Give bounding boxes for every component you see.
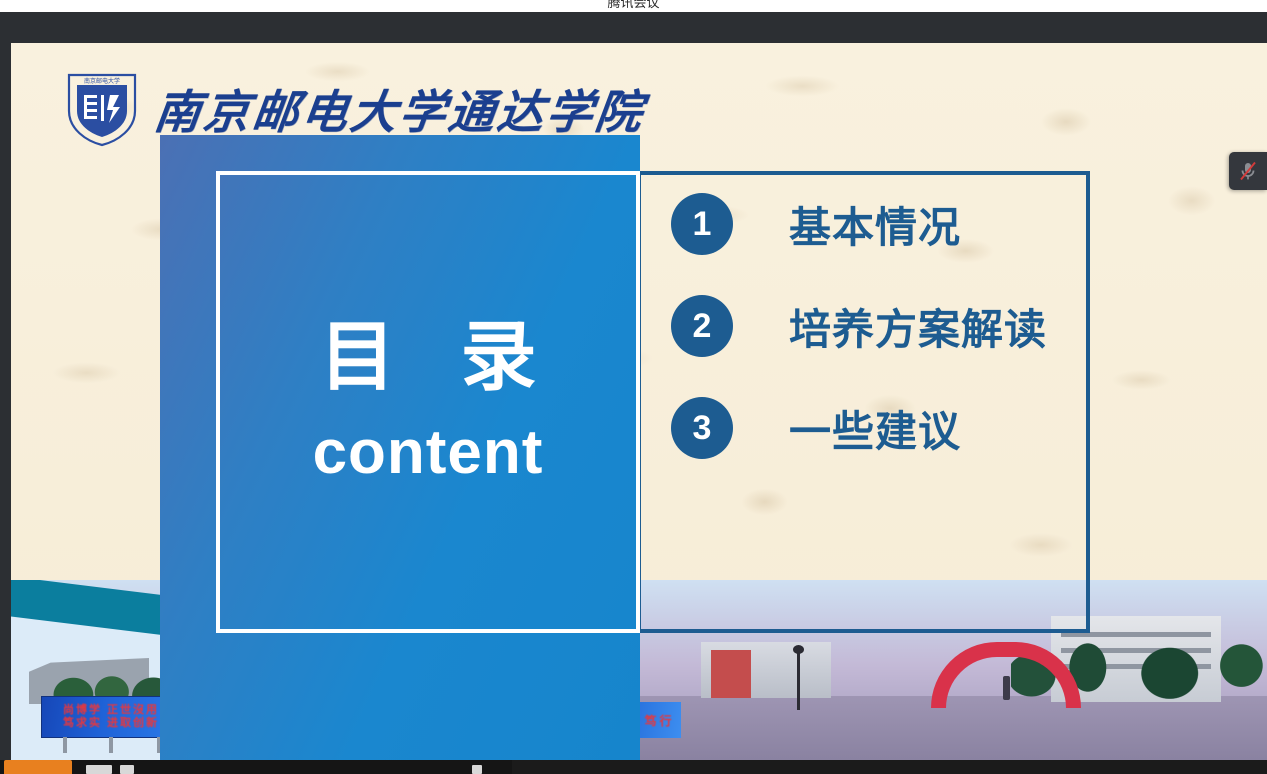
- toc-item-3: 3 一些建议: [671, 397, 1091, 459]
- toc-list: 1 基本情况 2 培养方案解读 3 一些建议: [671, 193, 1091, 459]
- os-taskbar[interactable]: [0, 760, 1267, 774]
- toc-item-1: 1 基本情况: [671, 193, 1091, 255]
- toc-badge-2: 2: [671, 295, 733, 357]
- photo-street-lamp: [797, 652, 800, 710]
- toc-badge-1: 1: [671, 193, 733, 255]
- photo-banner-left-line1: 尚博学 正世沒用: [63, 705, 159, 717]
- taskbar-active-tab[interactable]: [4, 760, 72, 774]
- presentation-slide: 厚德 弘毅 求是 笃行 尚博学 正世沒用 笃求实 进取创新: [11, 43, 1267, 760]
- slide-header: 南京邮电大学 南京邮电大学通达学院: [63, 71, 645, 147]
- taskbar-item-3[interactable]: [472, 765, 482, 774]
- photo-banner-posts: [57, 737, 167, 753]
- window-titlebar: 腾讯会议: [0, 0, 1267, 12]
- taskbar-strip: [0, 760, 512, 774]
- svg-text:南京邮电大学: 南京邮电大学: [84, 77, 120, 85]
- taskbar-item-2[interactable]: [120, 765, 134, 774]
- toc-item-2: 2 培养方案解读: [671, 295, 1091, 357]
- university-name: 南京邮电大学通达学院: [151, 76, 649, 142]
- photo-person: [1003, 676, 1010, 700]
- toc-badge-3: 3: [671, 397, 733, 459]
- meeting-window: 腾讯会议 厚德 弘毅 求是 笃行: [0, 0, 1267, 774]
- toc-heading-en: content: [313, 422, 544, 484]
- photo-banner-left-line2: 笃求实 进取创新: [63, 718, 159, 730]
- toc-label-1: 基本情况: [789, 194, 961, 255]
- meeting-toolbar-band: [0, 12, 1267, 43]
- microphone-muted-icon: [1238, 160, 1258, 182]
- toc-heading-cn: 目 录: [297, 320, 558, 396]
- photo-building-center-red: [711, 650, 751, 698]
- toc-label-3: 一些建议: [789, 398, 961, 459]
- app-title: 腾讯会议: [0, 0, 1267, 12]
- toc-label-2: 培养方案解读: [789, 296, 1047, 357]
- shared-screen-stage: 厚德 弘毅 求是 笃行 尚博学 正世沒用 笃求实 进取创新: [0, 43, 1267, 760]
- university-crest-icon: 南京邮电大学: [63, 71, 141, 147]
- mic-status-widget[interactable]: [1229, 152, 1267, 190]
- toc-heading-group: 目 录 content: [216, 171, 640, 633]
- taskbar-item-1[interactable]: [86, 765, 112, 774]
